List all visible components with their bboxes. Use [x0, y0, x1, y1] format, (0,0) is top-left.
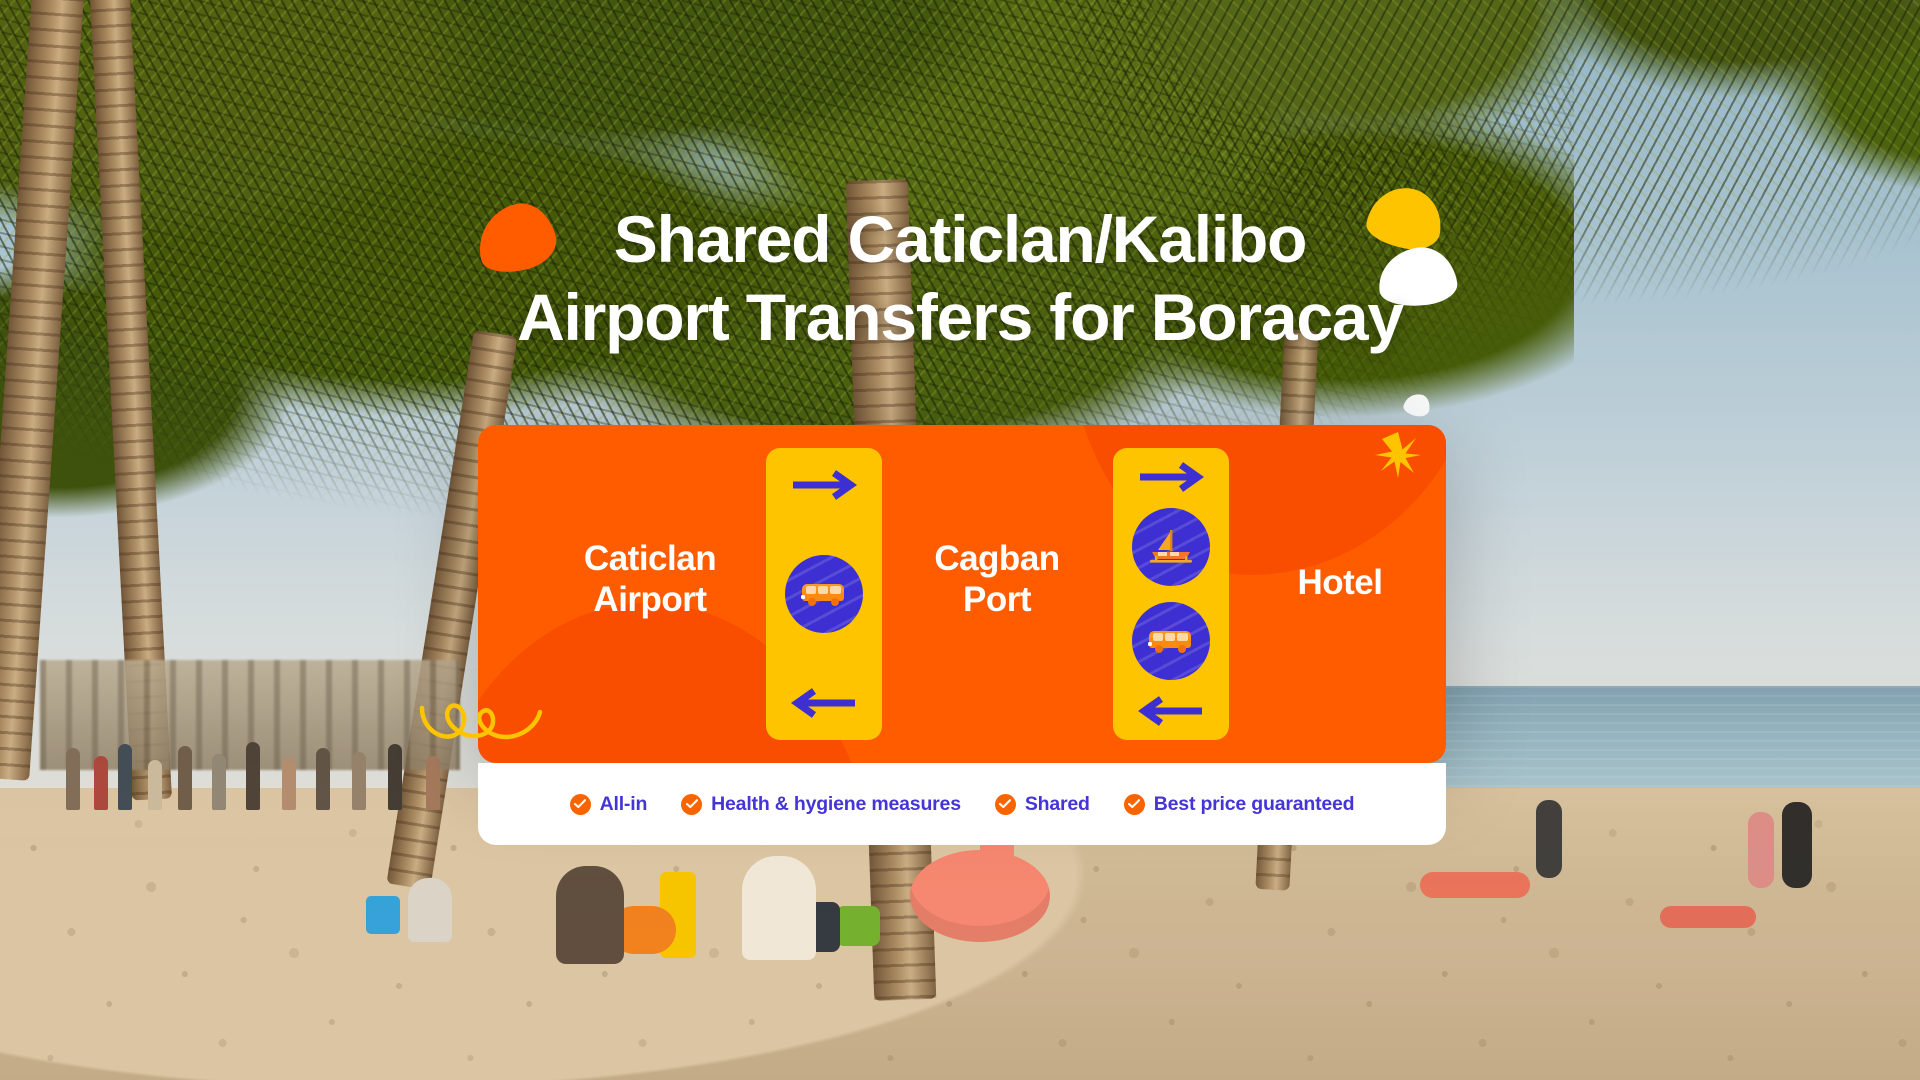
route-node-cagban-port: Cagban Port: [890, 538, 1104, 620]
feature-item-health-hygiene[interactable]: Health & hygiene measures: [681, 793, 961, 816]
route-node-hotel: Hotel: [1240, 562, 1440, 603]
feature-item-all-in[interactable]: All-in: [570, 793, 648, 816]
arrow-left-icon: [791, 688, 857, 718]
route-node-label-line1: Caticlan: [584, 539, 716, 578]
arrow-right-icon: [791, 470, 857, 500]
feature-label: Health & hygiene measures: [711, 793, 961, 816]
feature-label: Best price guaranteed: [1154, 793, 1355, 816]
check-circle-icon: [1124, 794, 1145, 815]
route-node-label-line2: Airport: [593, 580, 706, 619]
van-icon: [785, 555, 863, 633]
check-circle-icon: [995, 794, 1016, 815]
check-circle-icon: [681, 794, 702, 815]
feature-label: All-in: [600, 793, 648, 816]
sparkle-star-icon: [1375, 432, 1421, 478]
van-glyph: [799, 578, 849, 610]
feature-item-best-price[interactable]: Best price guaranteed: [1124, 793, 1355, 816]
outrigger-boat-glyph: [1145, 528, 1197, 566]
route-node-caticlan-airport: Caticlan Airport: [540, 538, 760, 620]
arrow-right-icon: [1138, 462, 1204, 492]
features-bar: All-in Health & hygiene measures Shared …: [478, 763, 1446, 845]
feature-label: Shared: [1025, 793, 1090, 816]
boat-icon: [1132, 508, 1210, 586]
check-circle-icon: [570, 794, 591, 815]
route-node-label-line2: Port: [963, 580, 1031, 619]
route-leg-port-to-hotel: [1113, 448, 1229, 740]
route-leg-airport-to-port: [766, 448, 882, 740]
route-node-label-line1: Cagban: [934, 539, 1059, 578]
route-node-label-line1: Hotel: [1298, 563, 1383, 602]
van-glyph: [1146, 625, 1196, 657]
yellow-squiggle-decoration: [418, 690, 544, 760]
feature-item-shared[interactable]: Shared: [995, 793, 1090, 816]
arrow-left-icon: [1138, 696, 1204, 726]
van-icon: [1132, 602, 1210, 680]
